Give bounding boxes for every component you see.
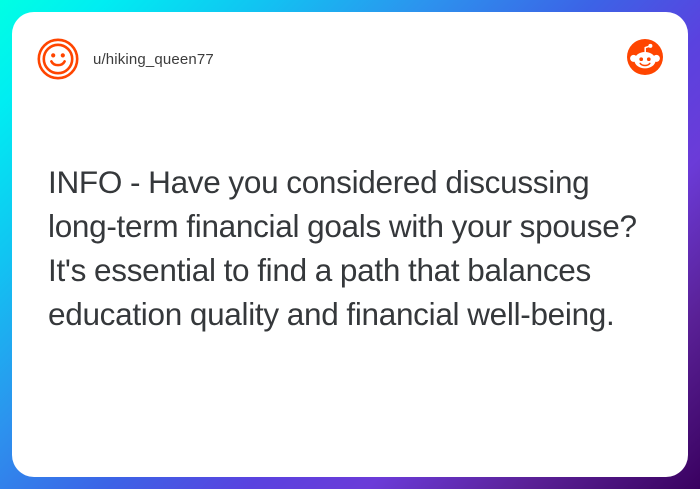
- username-label: u/hiking_queen77: [93, 51, 214, 68]
- post-text: INFO - Have you considered discussing lo…: [48, 160, 658, 336]
- card-body: INFO - Have you considered discussing lo…: [48, 160, 658, 336]
- gradient-background: u/hiking_queen77: [0, 0, 700, 489]
- post-card: u/hiking_queen77: [12, 12, 688, 477]
- reddit-snoo-icon[interactable]: [627, 39, 663, 75]
- card-header: u/hiking_queen77: [37, 36, 663, 82]
- smiley-face-icon[interactable]: [37, 38, 79, 80]
